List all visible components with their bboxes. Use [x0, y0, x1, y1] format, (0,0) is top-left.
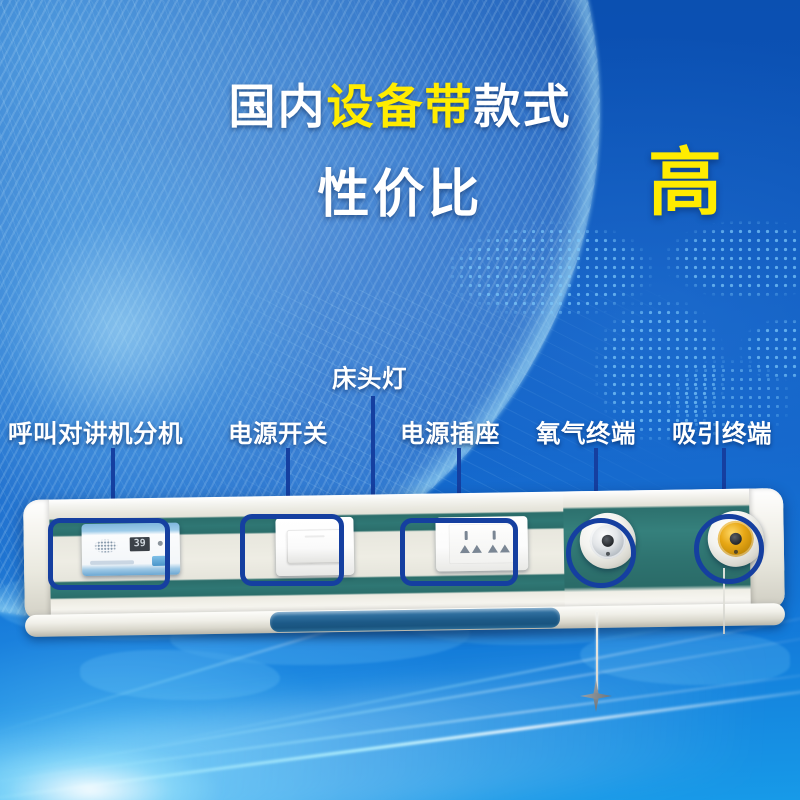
- callout-label-power-switch: 电源开关: [228, 415, 328, 450]
- callout-label-call-intercom-extension: 呼叫对讲机分机: [8, 415, 183, 450]
- dot-matrix-world-map-secondary: [620, 330, 800, 480]
- highlight-circle-suction-terminal: [694, 514, 764, 584]
- panel-rail-insert: [270, 608, 560, 633]
- highlight-box-call-intercom-extension: [48, 518, 170, 590]
- callout-label-suction-terminal: 吸引终端: [672, 415, 772, 450]
- headline-line-1: 国内设备带款式: [0, 82, 800, 132]
- highlight-box-power-switch: [240, 514, 344, 586]
- headline-emphasis: 高: [648, 146, 722, 220]
- callout-label-bed-lamp: 床头灯: [332, 360, 407, 395]
- callout-label-oxygen-terminal: 氧气终端: [536, 415, 636, 450]
- light-hotspot: [0, 745, 220, 800]
- pull-cord-line[interactable]: [596, 612, 598, 690]
- headline-segment-white-2: 款式: [474, 80, 572, 133]
- pull-cord-handle[interactable]: [580, 680, 612, 712]
- product-banner: 国内设备带款式 性价比 高 呼叫对讲机分机 电源开关 床头灯 电源插座 氧气终端…: [0, 0, 800, 800]
- highlight-box-power-socket: [400, 518, 518, 586]
- panel-left-end-cap: [23, 500, 51, 620]
- callout-label-power-socket: 电源插座: [400, 415, 500, 450]
- highlight-circle-oxygen-terminal: [566, 518, 636, 588]
- headline-segment-white-1: 国内: [229, 80, 327, 133]
- headline-segment-yellow: 设备带: [327, 80, 474, 133]
